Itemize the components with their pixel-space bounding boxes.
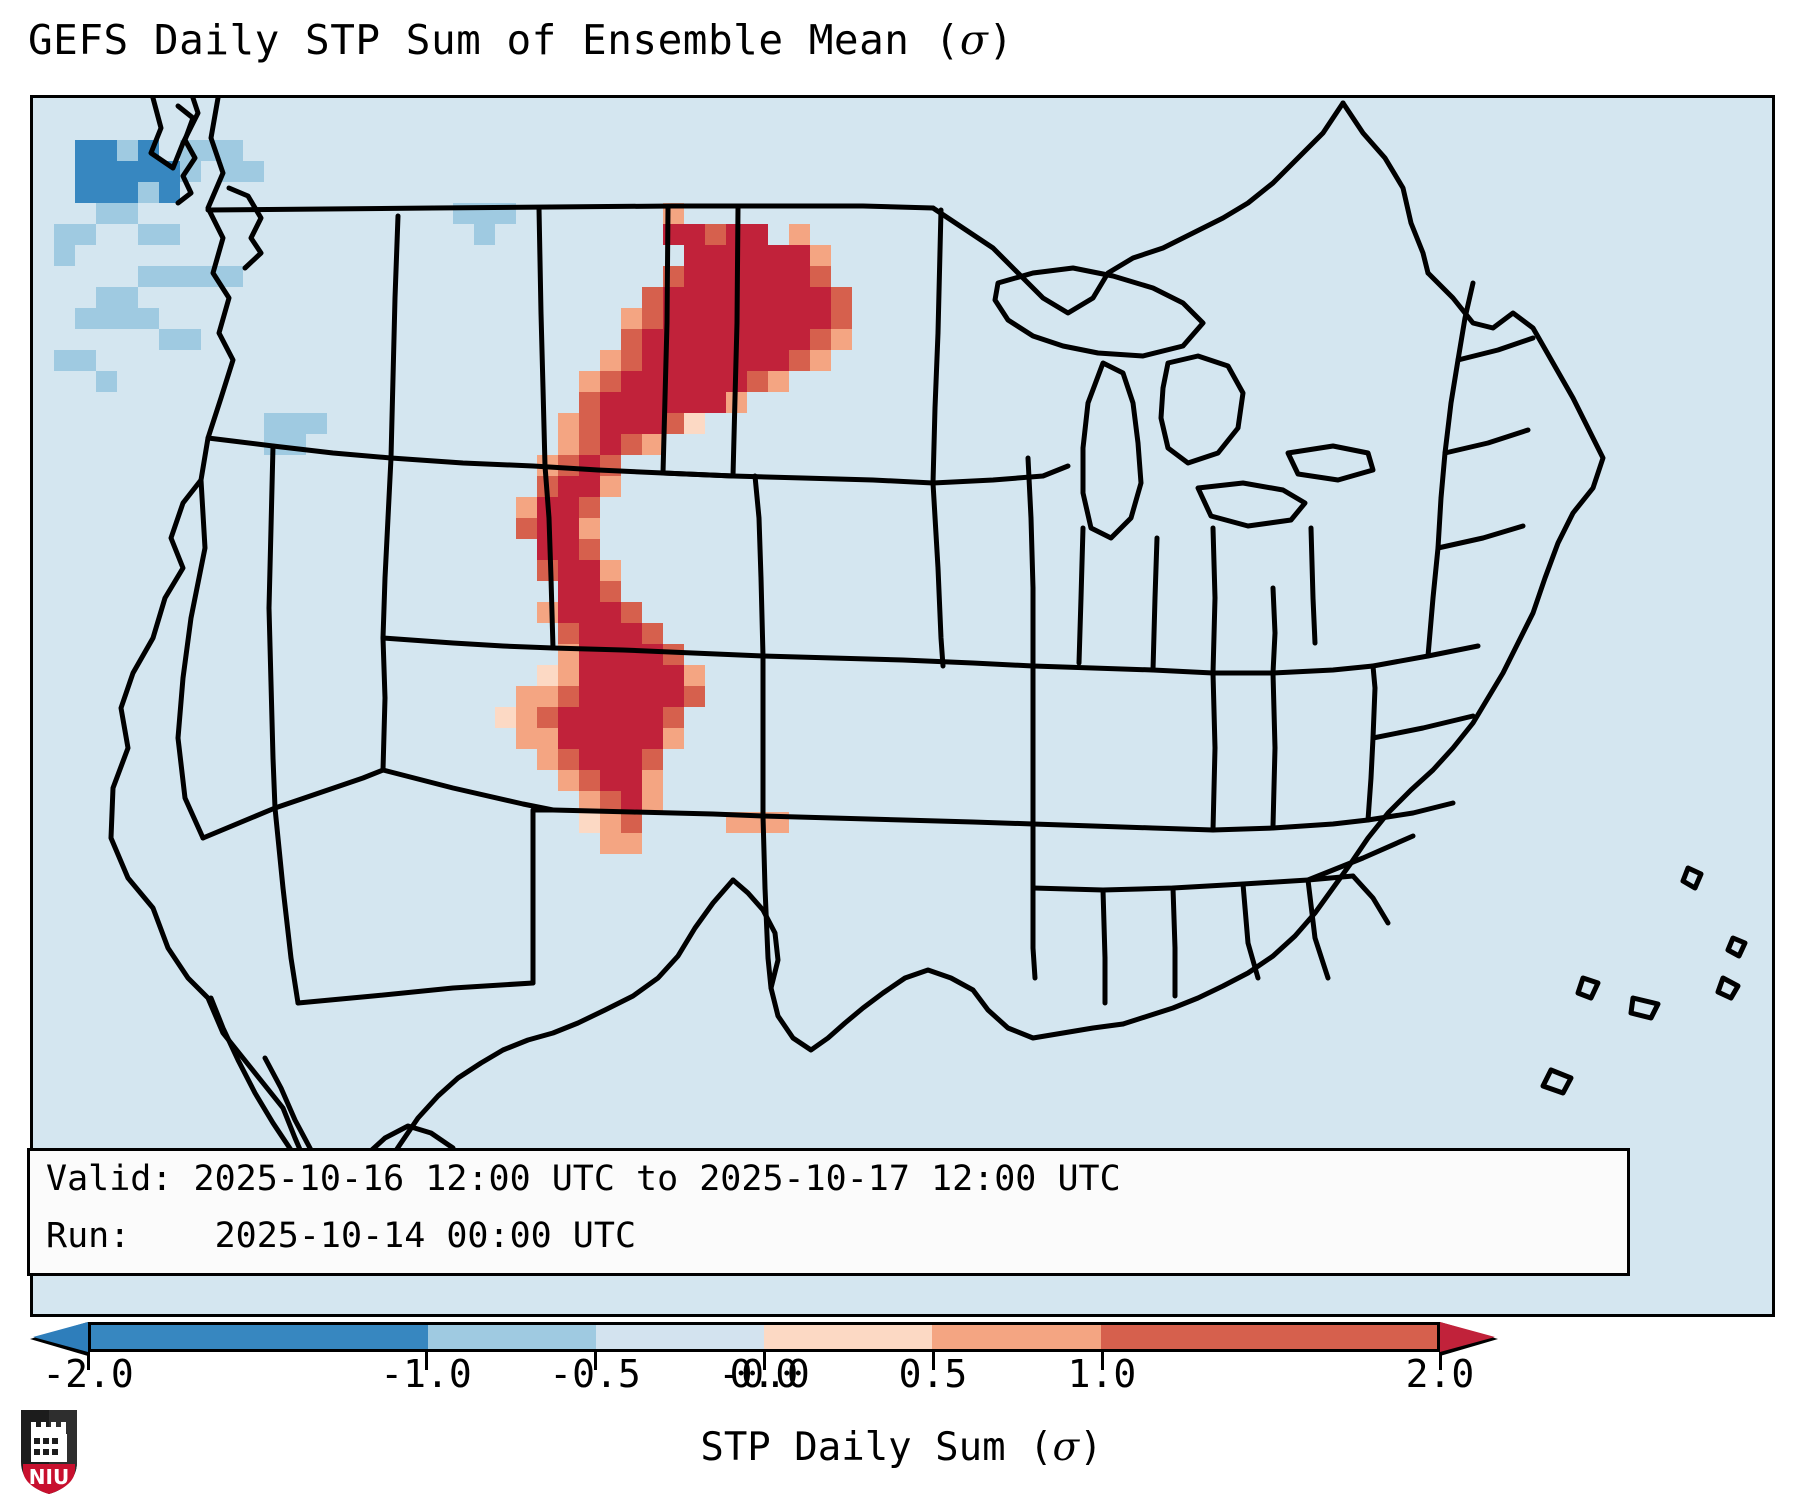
niu-logo: NIU [18,1408,80,1496]
title-suffix: ) [988,16,1013,64]
cb-sigma-symbol: σ [1053,1425,1080,1470]
colorbar-gradient [88,1322,1440,1352]
colorbar-axis-label: STP Daily Sum (σ) [0,1425,1803,1470]
page-title: GEFS Daily STP Sum of Ensemble Mean (σ) [28,16,1014,64]
colorbar-tick-label: 0.0 [730,1352,799,1396]
colorbar-segment [932,1325,1100,1349]
run-time-line: Run: 2025-10-14 00:00 UTC [46,1208,1627,1265]
map-panel [30,95,1775,1317]
sigma-symbol: σ [960,16,989,64]
colorbar-under-arrow [33,1322,88,1352]
colorbar-segment [596,1325,764,1349]
colorbar-tick-label: 2.0 [1406,1352,1475,1396]
valid-run-infobox: Valid: 2025-10-16 12:00 UTC to 2025-10-1… [27,1148,1630,1276]
weather-map-figure: GEFS Daily STP Sum of Ensemble Mean (σ) [0,0,1803,1506]
colorbar-tick-label: 0.5 [899,1352,968,1396]
colorbar-segment [91,1325,428,1349]
colorbar-tick-label: -2.0 [42,1352,134,1396]
colorbar-tick-label: -1.0 [380,1352,472,1396]
valid-time-line: Valid: 2025-10-16 12:00 UTC to 2025-10-1… [46,1151,1627,1208]
colorbar-segment [428,1325,596,1349]
niu-logo-text: NIU [29,1465,69,1489]
colorbar-segment [764,1325,932,1349]
colorbar-over-arrow [1440,1322,1495,1352]
map-boundaries [33,98,1772,1314]
title-text: GEFS Daily STP Sum of Ensemble Mean ( [28,16,960,64]
colorbar-tick-label: -0.5 [549,1352,641,1396]
map-clip [33,98,1772,1314]
cb-label-text: STP Daily Sum ( [700,1425,1052,1470]
cb-label-suffix: ) [1079,1425,1102,1470]
colorbar-segment [1101,1325,1438,1349]
colorbar-tick-label: 1.0 [1068,1352,1137,1396]
